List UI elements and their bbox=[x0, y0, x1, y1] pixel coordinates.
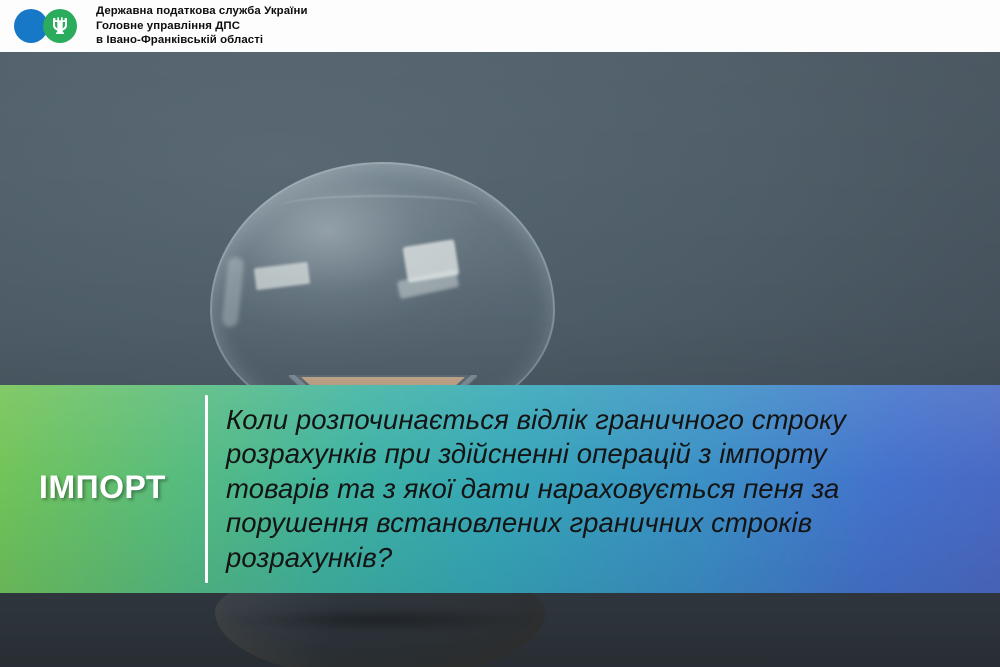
org-title-line-2: Головне управління ДПС bbox=[96, 19, 308, 34]
info-banner-screen: Державна податкова служба України Головн… bbox=[0, 0, 1000, 667]
site-header: Державна податкова служба України Головн… bbox=[0, 0, 1000, 52]
question-line-5: розрахунків? bbox=[226, 541, 986, 576]
question-line-2: розрахунків при здійсненні операцій з ім… bbox=[226, 437, 986, 472]
question-line-1: Коли розпочинається відлік граничного ст… bbox=[226, 403, 986, 438]
ukraine-trident-icon bbox=[52, 16, 68, 36]
category-tag: ІМПОРТ bbox=[0, 385, 205, 593]
dps-logo bbox=[14, 9, 86, 43]
org-title-line-1: Державна податкова служба України bbox=[96, 4, 308, 19]
category-tag-label: ІМПОРТ bbox=[39, 469, 166, 506]
org-title-line-3: в Івано-Франківській області bbox=[96, 33, 308, 48]
glass-rim-highlight bbox=[281, 195, 479, 217]
question-line-3: товарів та з якої дати нараховується пен… bbox=[226, 472, 986, 507]
question-line-4: порушення встановлених граничних строків bbox=[226, 506, 986, 541]
question-text: Коли розпочинається відлік граничного ст… bbox=[208, 403, 1000, 576]
question-banner: ІМПОРТ Коли розпочинається відлік гранич… bbox=[0, 385, 1000, 593]
organization-title: Державна податкова служба України Головн… bbox=[96, 4, 308, 48]
